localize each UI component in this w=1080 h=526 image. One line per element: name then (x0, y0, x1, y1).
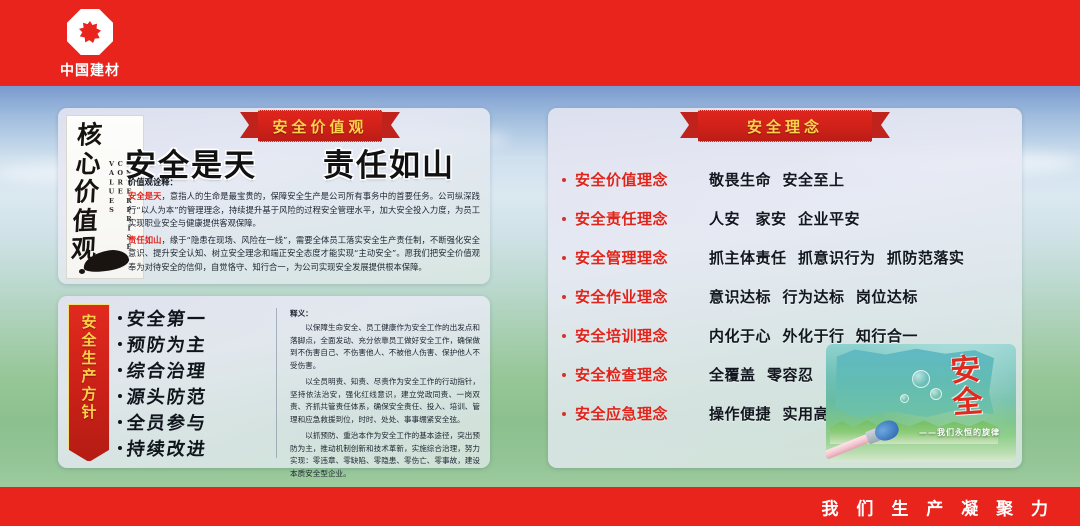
brand-logo: 中国建材 (40, 9, 140, 81)
list-item: 预防为主 (118, 332, 268, 356)
concept-name: 安全责任理念 (575, 208, 709, 229)
bullet-icon (562, 412, 566, 416)
bubble-icon (900, 394, 909, 403)
bullet-icon (562, 178, 566, 182)
decoration-word: 安全 (945, 353, 978, 419)
policy-item-list: 安全第一 预防为主 综合治理 源头防范 全员参与 持续改进 (118, 306, 268, 462)
bullet-icon (118, 420, 122, 424)
vertical-banner-text: 安全生产方针 (79, 314, 100, 422)
list-item: 安全责任理念 人安 家安 企业平安 (562, 199, 1012, 238)
list-item: 安全作业理念 意识达标 行为达标 岗位达标 (562, 277, 1012, 316)
concept-value: 抓主体责任 抓意识行为 抓防范落实 (709, 247, 964, 268)
bullet-icon (562, 217, 566, 221)
concept-name: 安全作业理念 (575, 286, 709, 307)
list-item: 安全管理理念 抓主体责任 抓意识行为 抓防范落实 (562, 238, 1012, 277)
core-values-explanation: 价值观诠释： 安全是天，意指人的生命是最宝贵的，保障安全生产是公司所有事务中的首… (128, 176, 480, 277)
octagon-logo-icon (67, 9, 113, 55)
bullet-icon (118, 342, 122, 346)
concept-value: 意识达标 行为达标 岗位达标 (709, 286, 918, 307)
list-item: 源头防范 (118, 384, 268, 408)
safety-concepts-card: 安全价值理念 敬畏生命 安全至上 安全责任理念 人安 家安 企业平安 安全管理理… (548, 108, 1022, 468)
policy-explanation: 释义： 以保障生命安全、员工健康作为安全工作的出发点和落脚点，全面发动、充分依靠… (290, 308, 480, 484)
bullet-icon (118, 316, 122, 320)
policy-item-label: 综合治理 (125, 357, 208, 383)
policy-item-label: 全员参与 (125, 409, 208, 435)
footer-slogan: 我 们 生 产 凝 聚 力 (821, 494, 1054, 519)
bullet-icon (562, 256, 566, 260)
ribbon-banner-safety-values: 安全价值观 (240, 110, 400, 140)
bullet-icon (118, 446, 122, 450)
safety-policy-card: 安全生产方针 安全第一 预防为主 综合治理 源头防范 全员参与 (58, 296, 490, 468)
concept-name: 安全检查理念 (575, 364, 709, 385)
bullet-icon (118, 394, 122, 398)
explanation-paragraph: 以保障生命安全、员工健康作为安全工作的出发点和落脚点，全面发动、充分依靠员工做好… (290, 322, 480, 373)
concept-name: 安全价值理念 (575, 169, 709, 190)
bullet-icon (562, 373, 566, 377)
list-item: 持续改进 (118, 436, 268, 460)
safety-decoration-image: 安全 ——我们永恒的旋律 (826, 344, 1016, 462)
explanation-paragraph: 以抓预防、重治本作为安全工作的基本途径，突出预防为主，推动机制创新和技术革新，实… (290, 430, 480, 481)
ribbon-title: 安全价值观 (272, 116, 367, 137)
concept-name: 安全管理理念 (575, 247, 709, 268)
concept-value: 人安 家安 企业平安 (709, 208, 860, 229)
vertical-banner-policy-title: 安全生产方针 (68, 304, 110, 462)
paragraph-text: ，缘于“隐患在现场、风险在一线”，需要全体员工落实安全生产责任制，不断强化安全意… (128, 235, 480, 272)
bullet-icon (562, 295, 566, 299)
paragraph-text: ，意指人的生命是最宝贵的，保障安全生产是公司所有事务中的首要任务。公司纵深践行“… (128, 191, 480, 228)
decoration-tagline: ——我们永恒的旋律 (919, 427, 1000, 438)
concept-value: 内化于心 外化于行 知行合一 (709, 325, 918, 346)
list-item: 综合治理 (118, 358, 268, 382)
ink-dot-icon (79, 269, 85, 274)
keyword-duty-as-mountain: 责任如山 (128, 235, 162, 245)
explanation-label: 释义： (290, 308, 480, 321)
safety-culture-poster: 中国建材 核 心 价 值 观 ENTERPRISE CORE VALUES 安全… (0, 0, 1080, 526)
ribbon-banner-safety-concepts: 安全理念 (680, 110, 890, 140)
list-item: 安全价值理念 敬畏生命 安全至上 (562, 160, 1012, 199)
concept-value: 敬畏生命 安全至上 (709, 169, 844, 190)
explanation-label: 价值观诠释： (128, 176, 480, 189)
list-item: 全员参与 (118, 410, 268, 434)
vertical-divider (276, 308, 277, 458)
bubble-icon (912, 370, 930, 388)
concept-name: 安全培训理念 (575, 325, 709, 346)
ribbon-title: 安全理念 (747, 116, 823, 137)
logo-text: 中国建材 (40, 60, 140, 80)
policy-item-label: 安全第一 (125, 305, 208, 331)
concept-name: 安全应急理念 (575, 403, 709, 424)
concept-value: 操作便捷 实用高效 (709, 403, 844, 424)
bullet-icon (562, 334, 566, 338)
list-item: 安全第一 (118, 306, 268, 330)
keyword-safety-is-sky: 安全是天 (128, 191, 162, 201)
bubble-icon (930, 388, 942, 400)
header-band: 中国建材 (0, 0, 1080, 86)
explanation-paragraph: 责任如山，缘于“隐患在现场、风险在一线”，需要全体员工落实安全生产责任制，不断强… (128, 234, 480, 274)
explanation-paragraph: 以全员明责、知责、尽责作为安全工作的行动指针，坚持依法治安，强化红线意识，建立党… (290, 376, 480, 427)
policy-item-label: 预防为主 (125, 331, 208, 357)
policy-item-label: 源头防范 (125, 383, 208, 409)
explanation-paragraph: 安全是天，意指人的生命是最宝贵的，保障安全生产是公司所有事务中的首要任务。公司纵… (128, 190, 480, 230)
bullet-icon (118, 368, 122, 372)
policy-item-label: 持续改进 (125, 435, 208, 461)
concept-value: 全覆盖 零容忍 (709, 364, 813, 385)
footer-band: 我 们 生 产 凝 聚 力 (0, 487, 1080, 526)
